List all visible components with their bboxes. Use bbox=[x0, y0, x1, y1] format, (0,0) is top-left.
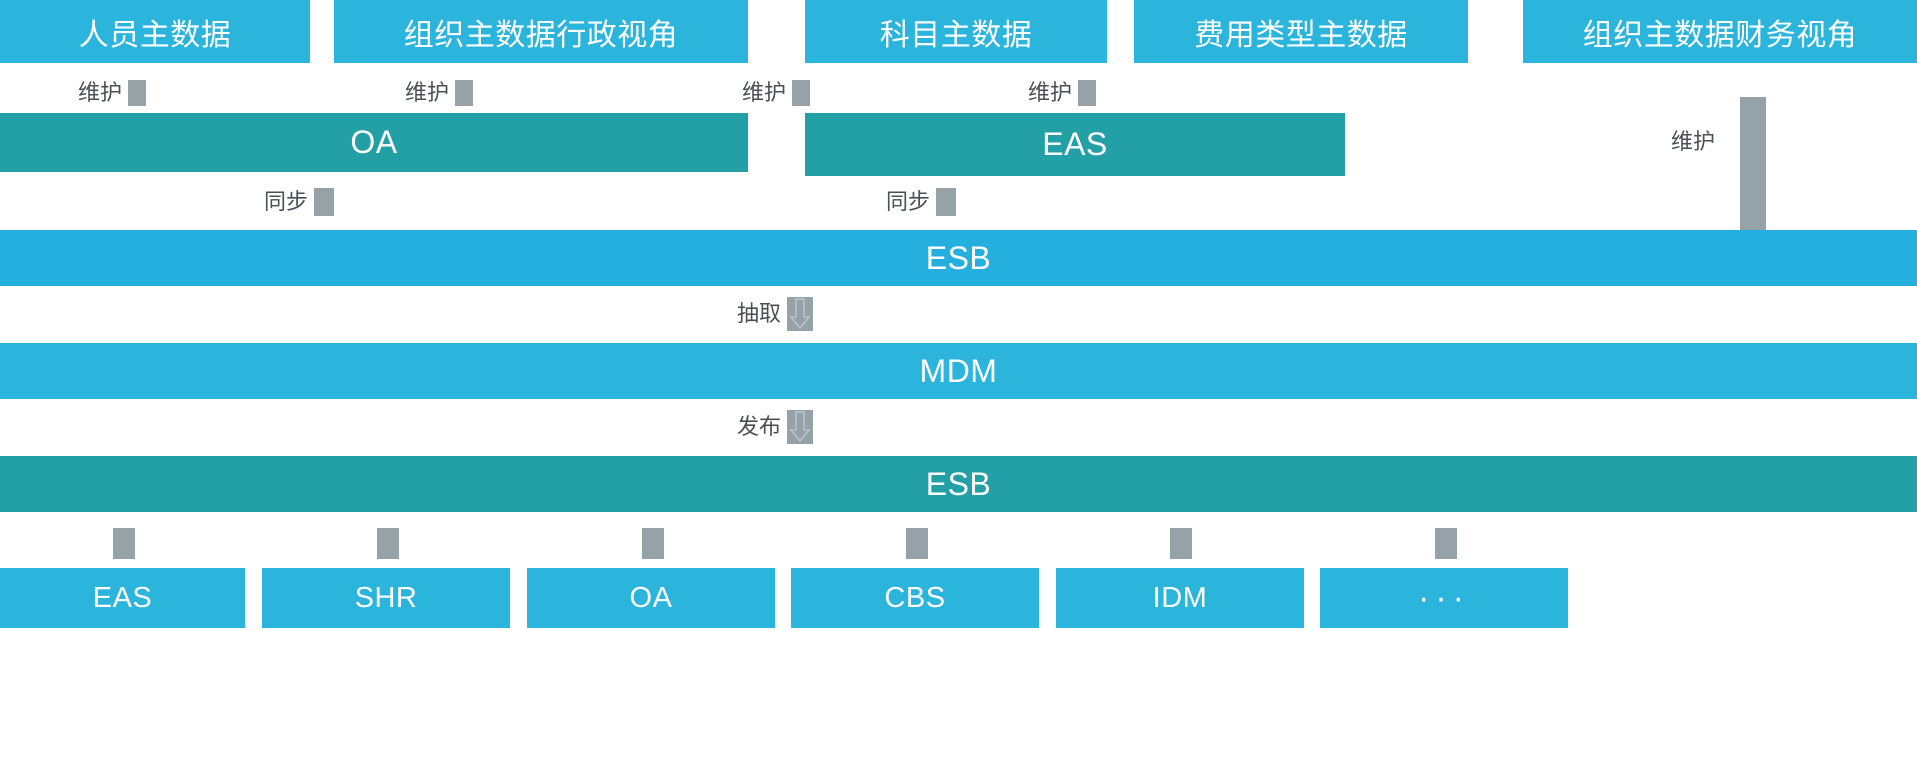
consumer-app-label: IDM bbox=[1153, 582, 1208, 615]
maintain-connector-label: 维护 bbox=[742, 82, 786, 104]
master-data-box-label: 组织主数据行政视角 bbox=[404, 10, 679, 54]
consumer-app-label: CBS bbox=[884, 582, 945, 615]
sync-connector-label: 同步 bbox=[264, 191, 308, 213]
connector-stub-icon bbox=[1435, 528, 1457, 559]
master-data-box-label: 人员主数据 bbox=[79, 10, 232, 54]
connector-stub-icon bbox=[377, 528, 399, 559]
connector-stub-icon bbox=[314, 188, 334, 216]
extract-connector: 抽取 bbox=[737, 297, 813, 331]
connector-stub-icon bbox=[1170, 528, 1192, 559]
maintain-connector-personnel: 维护 bbox=[78, 80, 146, 106]
sync-connector-eas: 同步 bbox=[886, 188, 956, 216]
connector-stub-icon bbox=[642, 528, 664, 559]
maintain-connector-label: 维护 bbox=[405, 82, 449, 104]
consumer-app-eas[interactable]: EAS bbox=[0, 568, 245, 628]
source-system-label: OA bbox=[350, 124, 397, 161]
connector-stub-icon bbox=[113, 528, 135, 559]
maintain-connector-expense-type: 维护 bbox=[1028, 80, 1096, 106]
esb-bus-top-label: ESB bbox=[926, 240, 992, 277]
connector-stub-icon bbox=[128, 80, 146, 106]
mdm-label: MDM bbox=[920, 353, 998, 390]
arrow-down-icon bbox=[787, 297, 813, 331]
maintain-connector-label: 维护 bbox=[1028, 82, 1072, 104]
connector-stub-icon bbox=[906, 528, 928, 559]
source-system-label: EAS bbox=[1042, 126, 1108, 163]
publish-connector-label: 发布 bbox=[737, 416, 781, 438]
connector-stub-icon bbox=[1078, 80, 1096, 106]
source-system-band-oa[interactable]: OA bbox=[0, 113, 748, 172]
maintain-connector-org-admin: 维护 bbox=[405, 80, 473, 106]
sync-connector-oa: 同步 bbox=[264, 188, 334, 216]
master-data-box-label: 科目主数据 bbox=[880, 10, 1033, 54]
master-data-box-expense-type[interactable]: 费用类型主数据 bbox=[1134, 0, 1468, 63]
finance-view-maintain-label: 维护 bbox=[1671, 131, 1715, 153]
master-data-box-org-admin-view[interactable]: 组织主数据行政视角 bbox=[334, 0, 748, 63]
publish-connector: 发布 bbox=[737, 410, 813, 444]
master-data-box-account[interactable]: 科目主数据 bbox=[805, 0, 1107, 63]
maintain-connector-account: 维护 bbox=[742, 80, 810, 106]
source-system-band-eas[interactable]: EAS bbox=[805, 113, 1345, 176]
connector-stub-icon bbox=[936, 188, 956, 216]
consumer-app-more[interactable]: ··· bbox=[1320, 568, 1568, 628]
arrow-down-icon bbox=[787, 410, 813, 444]
mdm-band[interactable]: MDM bbox=[0, 343, 1917, 399]
esb-bus-top[interactable]: ESB bbox=[0, 230, 1917, 286]
master-data-box-personnel[interactable]: 人员主数据 bbox=[0, 0, 310, 63]
consumer-app-label: OA bbox=[630, 582, 673, 615]
sync-connector-label: 同步 bbox=[886, 191, 930, 213]
consumer-app-oa[interactable]: OA bbox=[527, 568, 775, 628]
consumer-app-label: EAS bbox=[93, 582, 153, 615]
extract-connector-label: 抽取 bbox=[737, 303, 781, 325]
mdm-architecture-diagram: 人员主数据 组织主数据行政视角 科目主数据 费用类型主数据 组织主数据财务视角 … bbox=[0, 0, 1917, 768]
esb-bus-bottom[interactable]: ESB bbox=[0, 456, 1917, 512]
master-data-box-label: 费用类型主数据 bbox=[1194, 10, 1408, 54]
consumer-app-label: ··· bbox=[1418, 579, 1470, 618]
esb-bus-bottom-label: ESB bbox=[926, 466, 992, 503]
consumer-app-idm[interactable]: IDM bbox=[1056, 568, 1304, 628]
consumer-app-shr[interactable]: SHR bbox=[262, 568, 510, 628]
master-data-box-label: 组织主数据财务视角 bbox=[1583, 10, 1858, 54]
consumer-app-cbs[interactable]: CBS bbox=[791, 568, 1039, 628]
maintain-connector-label: 维护 bbox=[78, 82, 122, 104]
connector-stub-icon bbox=[455, 80, 473, 106]
master-data-box-org-finance-view[interactable]: 组织主数据财务视角 bbox=[1523, 0, 1917, 63]
connector-stub-icon bbox=[792, 80, 810, 106]
consumer-app-label: SHR bbox=[355, 582, 418, 615]
